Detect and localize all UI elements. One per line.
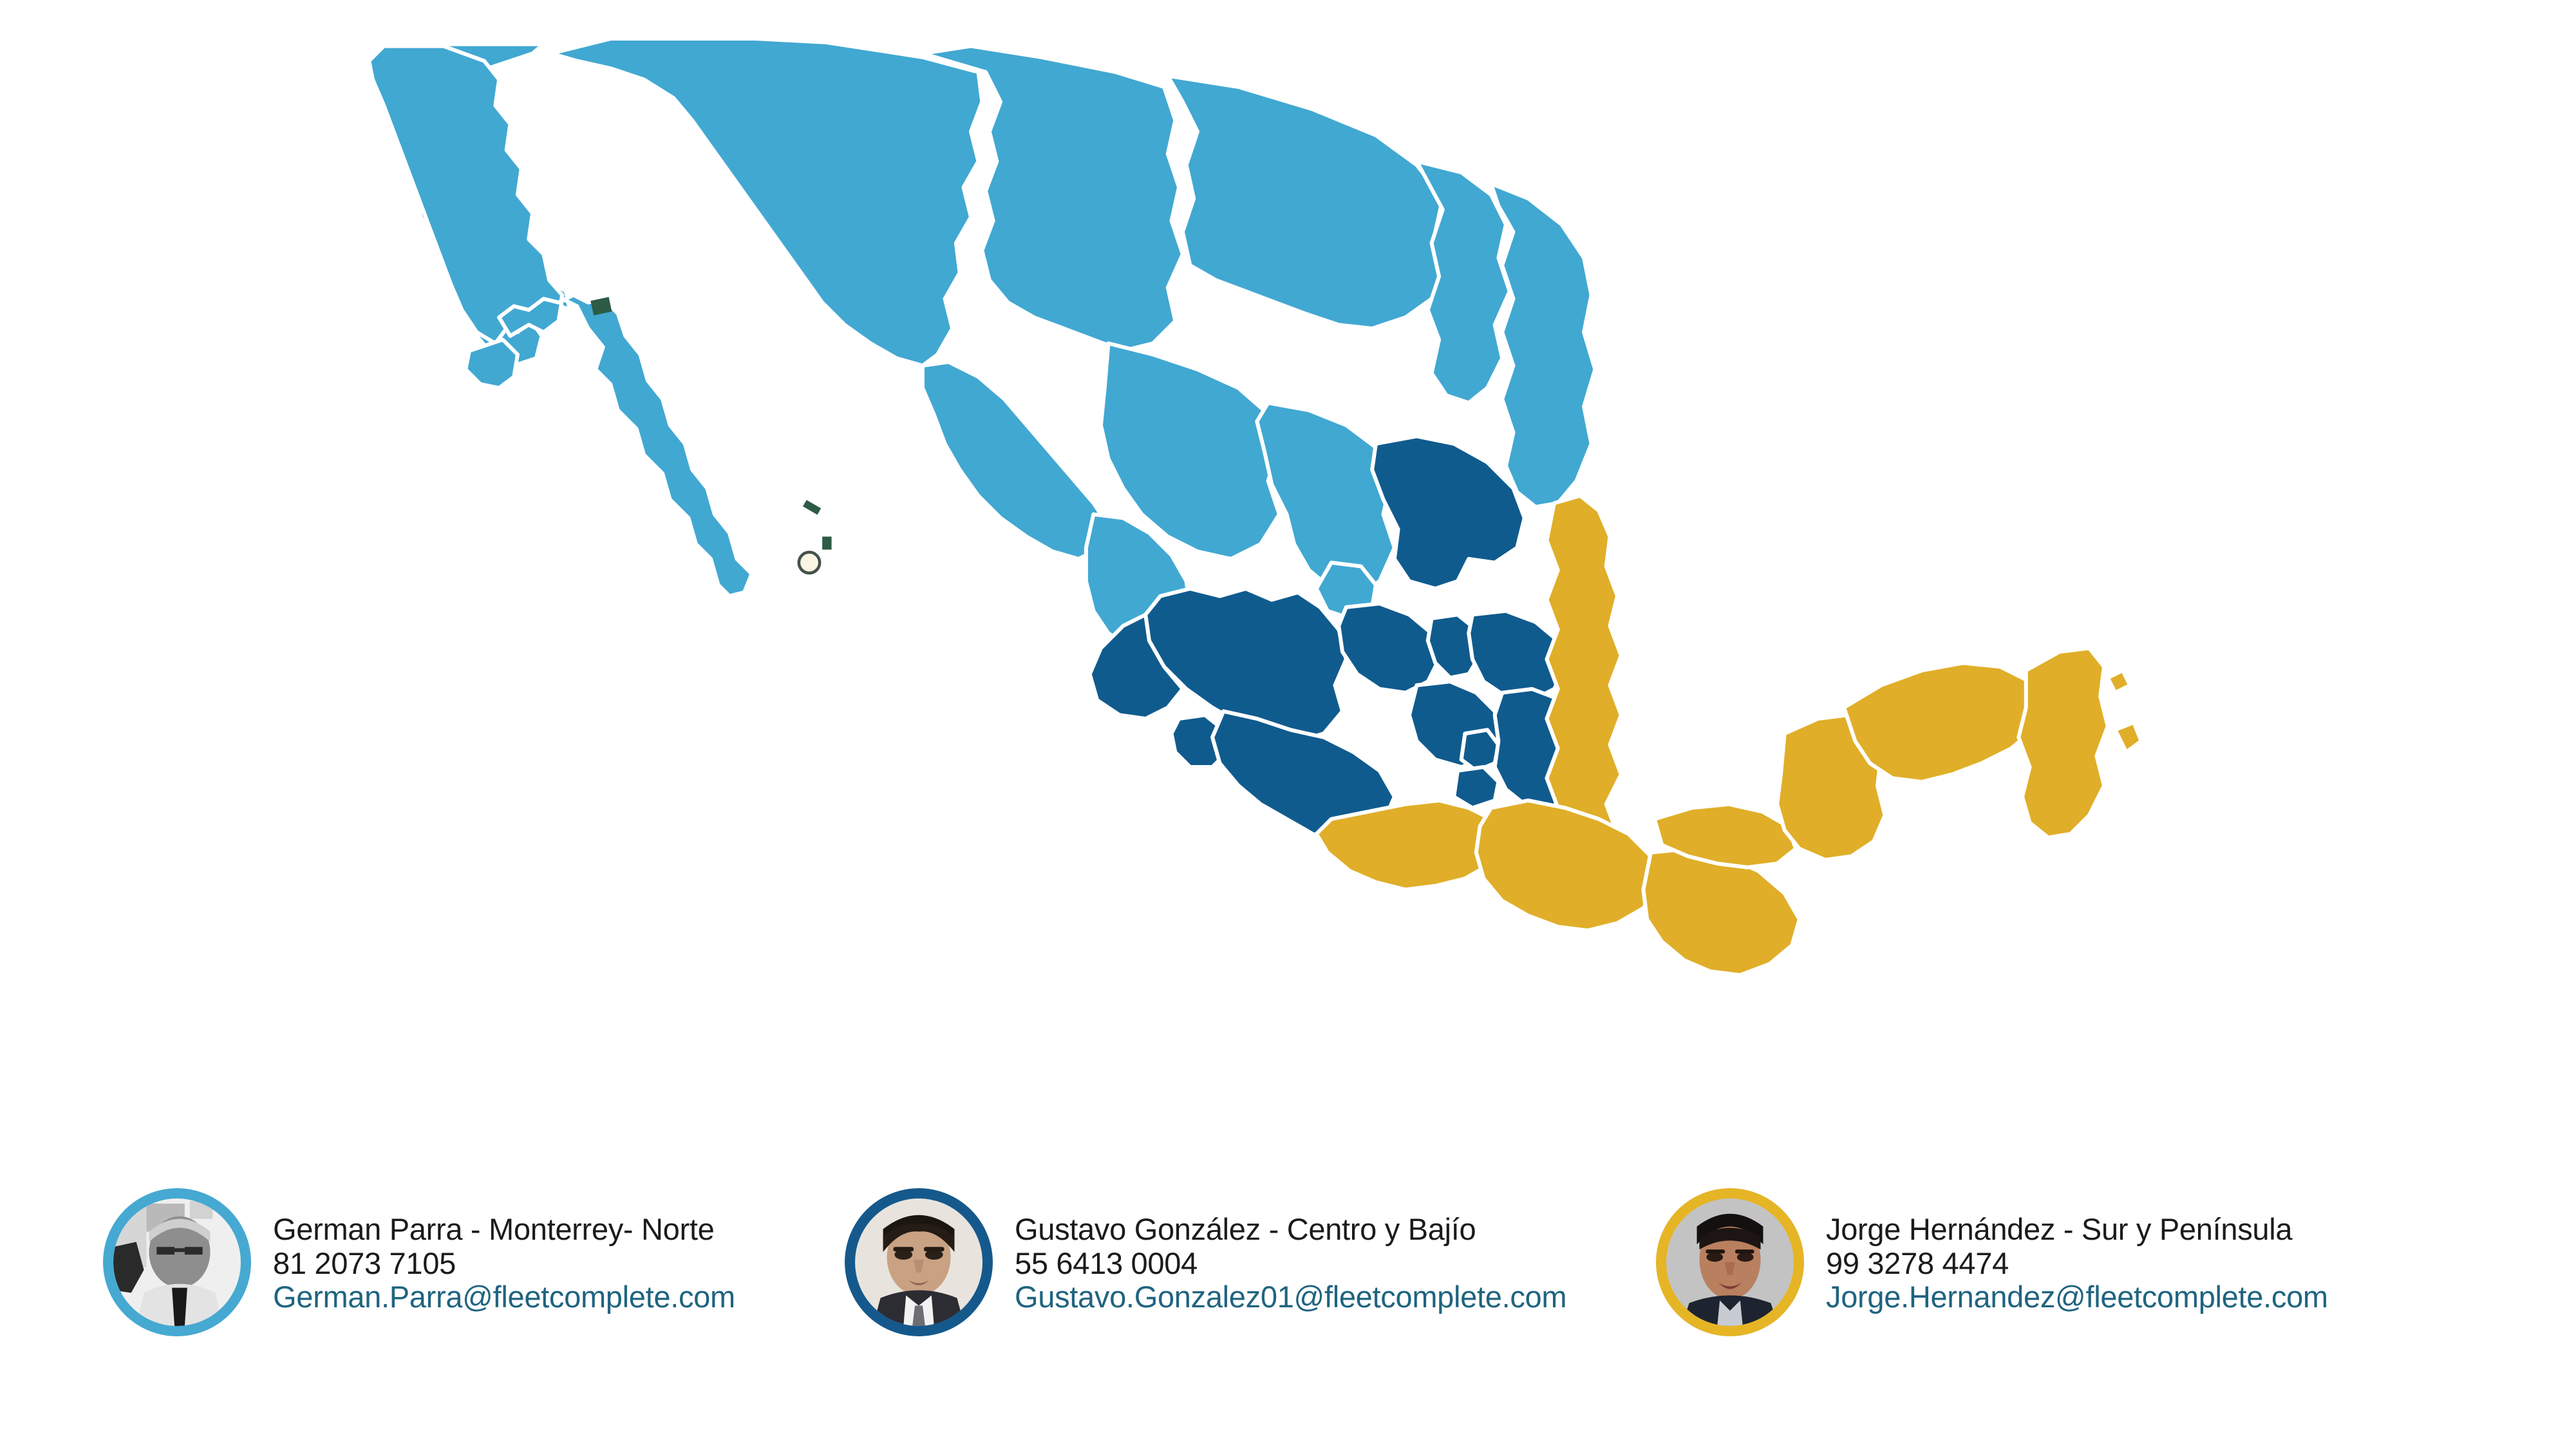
state-sinaloa[interactable] [923, 362, 1109, 559]
state-guanajuato[interactable] [1339, 603, 1439, 692]
island-isla-mujeres [2108, 670, 2130, 693]
contact-details: Jorge Hernández - Sur y Península 99 327… [1826, 1188, 2328, 1314]
state-zacatecas[interactable] [1257, 403, 1395, 596]
state-ciudad-de-mexico[interactable] [1462, 730, 1499, 770]
avatar-gustavo-gonzalez [845, 1188, 993, 1336]
contact-email[interactable]: German.Parra@fleetcomplete.com [273, 1280, 735, 1314]
contact-card-centro[interactable]: Gustavo González - Centro y Bajío 55 641… [845, 1188, 1566, 1336]
contact-email[interactable]: Gustavo.Gonzalez01@fleetcomplete.com [1015, 1280, 1566, 1314]
state-quintana-roo[interactable] [2018, 648, 2107, 837]
avatar-german-parra [103, 1188, 251, 1336]
state-oaxaca[interactable] [1476, 800, 1659, 931]
map-container [0, 0, 2576, 1159]
island-marker-2 [803, 500, 821, 515]
island-cozumel [2115, 723, 2141, 752]
avatar-photo [1666, 1198, 1794, 1326]
state-baja-california-solid[interactable] [369, 46, 562, 344]
contact-phone[interactable]: 55 6413 0004 [1015, 1247, 1566, 1281]
contact-name: Gustavo González - Centro y Bajío [1015, 1213, 1566, 1247]
mexico-territory-map[interactable] [361, 39, 2228, 1172]
contact-row: German Parra - Monterrey- Norte 81 2073 … [0, 1188, 2576, 1401]
state-coahuila[interactable] [1168, 76, 1447, 328]
contact-name: German Parra - Monterrey- Norte [273, 1213, 735, 1247]
slide-canvas: German Parra - Monterrey- Norte 81 2073 … [0, 0, 2576, 1449]
contact-details: Gustavo González - Centro y Bajío 55 641… [1015, 1188, 1566, 1314]
state-morelos[interactable] [1454, 767, 1498, 808]
island-marker-3 [822, 536, 831, 549]
contact-details: German Parra - Monterrey- Norte 81 2073 … [273, 1188, 735, 1314]
contact-card-norte[interactable]: German Parra - Monterrey- Norte 81 2073 … [103, 1188, 735, 1336]
portrait-color [1666, 1198, 1794, 1326]
state-tamaulipas[interactable] [1491, 184, 1595, 507]
contact-phone[interactable]: 99 3278 4474 [1826, 1247, 2328, 1281]
contact-email[interactable]: Jorge.Hernandez@fleetcomplete.com [1826, 1280, 2328, 1314]
island-marker-ring [799, 552, 820, 573]
avatar-jorge-hernandez [1656, 1188, 1804, 1336]
state-baja-california-sur-cape[interactable] [465, 339, 518, 388]
portrait-color [855, 1198, 982, 1326]
state-chiapas[interactable] [1643, 849, 1799, 975]
avatar-photo [113, 1198, 241, 1326]
portrait-grayscale [113, 1198, 241, 1326]
contact-card-sur[interactable]: Jorge Hernández - Sur y Península 99 327… [1656, 1188, 2328, 1336]
contact-phone[interactable]: 81 2073 7105 [273, 1247, 735, 1281]
state-yucatan[interactable] [1844, 663, 2045, 782]
contact-name: Jorge Hernández - Sur y Península [1826, 1213, 2328, 1247]
avatar-photo [855, 1198, 982, 1326]
state-san-luis-potosi[interactable] [1372, 436, 1525, 589]
